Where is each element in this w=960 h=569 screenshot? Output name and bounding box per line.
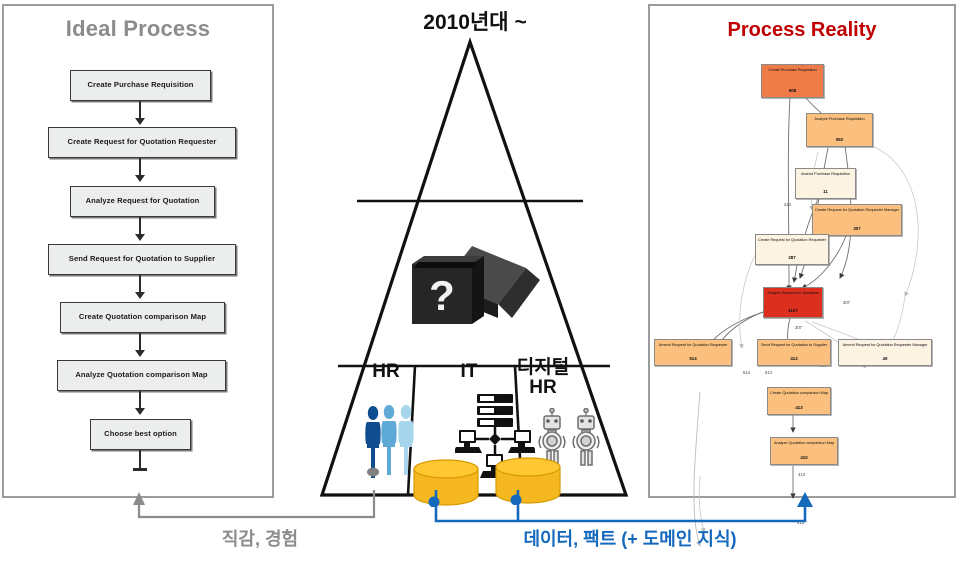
pm-node-9-label: Create Quotation comparison Map xyxy=(768,391,830,395)
slide-canvas: Ideal Process Create Purchase Requisitio… xyxy=(0,0,960,569)
pm-node-2-label: Amend Purchase Requisition xyxy=(796,172,855,176)
flow-step-2[interactable]: Create Request for Quotation Requester xyxy=(48,127,236,158)
era-title: 2010년대 ~ xyxy=(330,6,620,36)
pm-node-5-label: Analyze Request for Quotation xyxy=(764,291,822,295)
hr-connector-dot xyxy=(367,468,379,477)
pm-node-10[interactable]: Analyze Quotation comparison Map 410 xyxy=(770,437,838,465)
ideal-process-title: Ideal Process xyxy=(4,16,272,42)
gray-arrowhead xyxy=(133,492,145,505)
pm-node-8[interactable]: Amend Request for Quotation Requester Ma… xyxy=(838,339,932,366)
flow-step-6[interactable]: Analyze Quotation comparison Map xyxy=(57,360,226,391)
blue-arrowhead xyxy=(797,492,813,507)
pyramid-label-hr: HR xyxy=(355,362,417,382)
pm-node-6-label: Amend Request for Quotation Requester xyxy=(655,343,731,347)
flow-arrowhead-3 xyxy=(135,234,145,241)
pm-node-7[interactable]: Send Request for Quotation to Supplier 4… xyxy=(757,339,831,366)
flow-connector-7 xyxy=(139,450,141,470)
flow-arrowhead-4 xyxy=(135,292,145,299)
flow-step-1[interactable]: Create Purchase Requisition xyxy=(70,70,211,101)
pm-node-0-value: 608 xyxy=(762,89,823,93)
flow-arrowhead-5 xyxy=(135,350,145,357)
pm-node-3-label: Create Request for Quotation Requester M… xyxy=(813,208,901,212)
pm-node-1[interactable]: Analyze Purchase Requisition 592 xyxy=(806,113,873,147)
pm-node-0[interactable]: Create Purchase Requisition 608 xyxy=(761,64,824,98)
right-caption: 데이터, 팩트 (+ 도메인 지식) xyxy=(440,525,820,551)
pm-node-2[interactable]: Amend Purchase Requisition 11 xyxy=(795,168,856,199)
pm-node-0-label: Create Purchase Requisition xyxy=(762,68,823,72)
flow-step-4[interactable]: Send Request for Quotation to Supplier xyxy=(48,244,236,275)
pm-node-2-value: 11 xyxy=(796,190,855,194)
pm-node-5-value: 1107 xyxy=(764,309,822,313)
mystery-box-icon: ? xyxy=(398,228,550,336)
left-caption: 직감, 경험 xyxy=(150,525,370,551)
flow-step-3[interactable]: Analyze Request for Quotation xyxy=(70,186,215,217)
flow-end-marker xyxy=(133,468,147,471)
pm-node-7-value: 413 xyxy=(758,357,830,361)
digital-hr-line1: 디지털 xyxy=(517,357,569,378)
pm-node-9[interactable]: Create Quotation comparison Map 413 xyxy=(767,387,831,415)
pm-node-4-label: Create Request for Quotation Requester xyxy=(756,238,828,242)
pm-node-3-value: 307 xyxy=(813,227,901,231)
pm-node-8-label: Amend Request for Quotation Requester Ma… xyxy=(839,343,931,347)
pm-node-10-label: Analyze Quotation comparison Map xyxy=(771,441,837,445)
pyramid-label-it: IT xyxy=(440,362,498,382)
mystery-question-mark: ? xyxy=(429,272,455,319)
pm-node-1-value: 592 xyxy=(807,138,872,142)
flow-arrowhead-1 xyxy=(135,118,145,125)
pm-node-10-value: 410 xyxy=(771,456,837,460)
pm-node-3[interactable]: Create Request for Quotation Requester M… xyxy=(812,204,902,236)
pm-node-4[interactable]: Create Request for Quotation Requester 2… xyxy=(755,234,829,265)
flow-arrowhead-2 xyxy=(135,175,145,182)
pm-node-4-value: 287 xyxy=(756,256,828,260)
flow-step-5[interactable]: Create Quotation comparison Map xyxy=(60,302,225,333)
pm-node-7-label: Send Request for Quotation to Supplier xyxy=(758,343,830,347)
pm-node-6[interactable]: Amend Request for Quotation Requester 51… xyxy=(654,339,732,366)
pm-node-1-label: Analyze Purchase Requisition xyxy=(807,117,872,121)
flow-step-7[interactable]: Choose best option xyxy=(90,419,191,450)
pm-node-6-value: 514 xyxy=(655,357,731,361)
process-reality-title: Process Reality xyxy=(650,19,954,42)
flow-arrowhead-6 xyxy=(135,408,145,415)
pm-node-5[interactable]: Analyze Request for Quotation 1107 xyxy=(763,287,823,318)
pm-node-8-value: 49 xyxy=(839,357,931,361)
pm-node-9-value: 413 xyxy=(768,406,830,410)
